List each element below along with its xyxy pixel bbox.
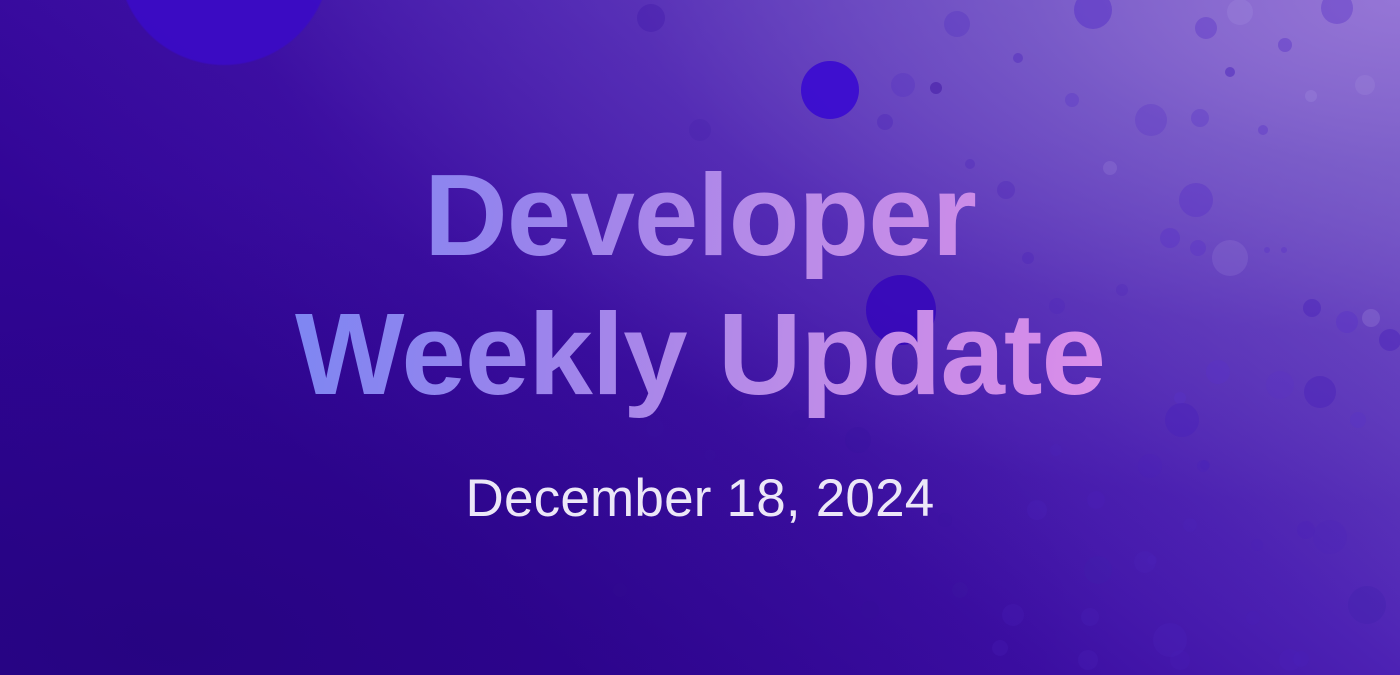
page-title: Developer Weekly Update — [295, 146, 1105, 424]
slide-content: Developer Weekly Update December 18, 202… — [0, 0, 1400, 675]
headline-line-1: Developer — [295, 146, 1105, 285]
headline-line-2: Weekly Update — [295, 285, 1105, 424]
slide-date: December 18, 2024 — [466, 468, 935, 529]
presentation-slide: Developer Weekly Update December 18, 202… — [0, 0, 1400, 675]
